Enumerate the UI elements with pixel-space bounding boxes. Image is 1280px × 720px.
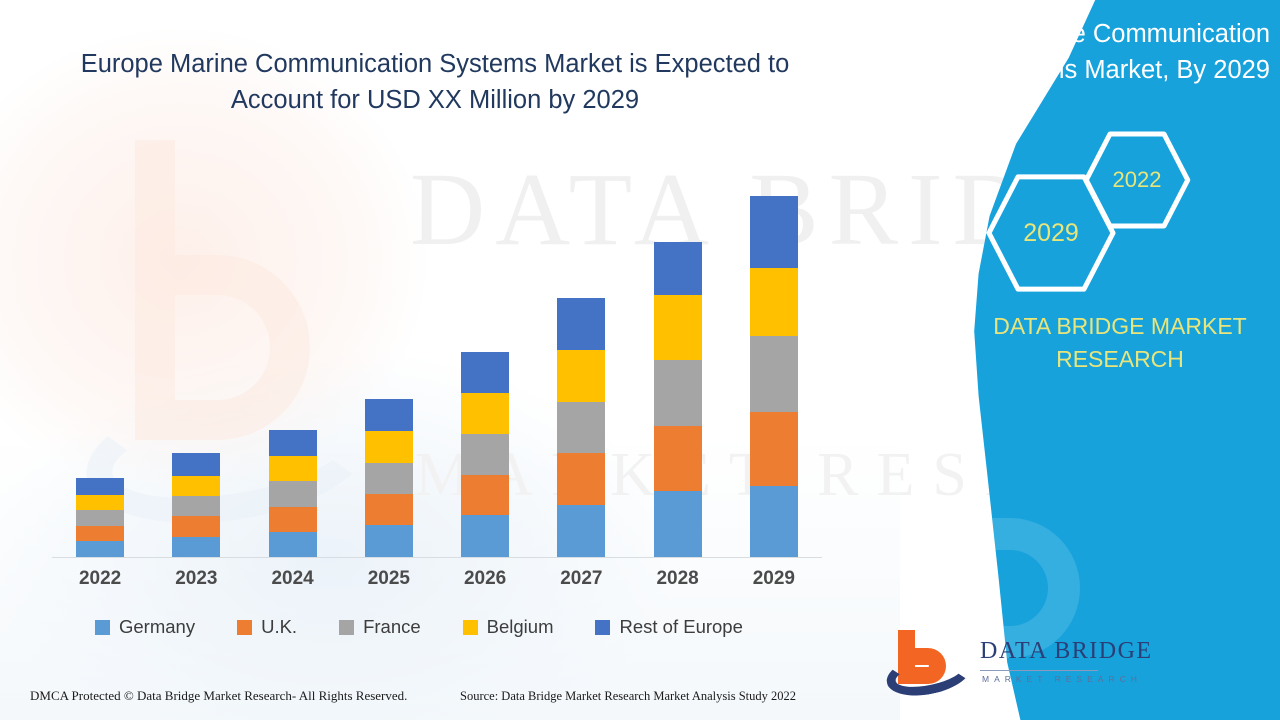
legend-label: Belgium <box>487 616 554 638</box>
footer-dmca-text: DMCA Protected © Data Bridge Market Rese… <box>30 688 407 704</box>
bar-segment-france <box>654 360 702 426</box>
bar-segment-belgium <box>654 295 702 360</box>
legend-item-france[interactable]: France <box>339 616 421 638</box>
bar-2024 <box>269 430 317 557</box>
bar-segment-france <box>557 402 605 453</box>
x-axis-label-2029: 2029 <box>734 568 814 590</box>
bar-segment-belgium <box>269 456 317 481</box>
bar-segment-belgium <box>76 495 124 511</box>
legend-swatch-icon <box>339 620 354 635</box>
x-axis-label-2024: 2024 <box>253 568 333 590</box>
x-axis-line <box>52 557 822 558</box>
bar-2026 <box>461 352 509 557</box>
legend-label: U.K. <box>261 616 297 638</box>
footer-source-text: Source: Data Bridge Market Research Mark… <box>460 689 796 704</box>
bar-segment-rest-of-europe <box>557 298 605 350</box>
bar-segment-u-k- <box>750 412 798 486</box>
bar-segment-belgium <box>461 393 509 434</box>
bar-segment-u-k- <box>654 426 702 491</box>
chart-legend: GermanyU.K.FranceBelgiumRest of Europe <box>95 616 785 638</box>
hex-2022-badge: 2022 <box>1083 130 1191 230</box>
x-axis-label-2028: 2028 <box>638 568 718 590</box>
bar-segment-germany <box>269 532 317 557</box>
bar-segment-france <box>750 336 798 413</box>
bar-segment-germany <box>365 525 413 557</box>
bar-segment-germany <box>76 541 124 557</box>
logo-subtitle: MARKET RESEARCH <box>982 674 1142 684</box>
x-axis-label-2025: 2025 <box>349 568 429 590</box>
bar-segment-u-k- <box>365 494 413 525</box>
bar-2027 <box>557 298 605 557</box>
bar-segment-germany <box>461 515 509 557</box>
bar-segment-rest-of-europe <box>461 352 509 393</box>
legend-item-germany[interactable]: Germany <box>95 616 195 638</box>
bar-segment-rest-of-europe <box>76 478 124 494</box>
logo-wordmark: DATA BRIDGE <box>980 638 1153 665</box>
bar-segment-belgium <box>365 431 413 463</box>
bar-2025 <box>365 399 413 557</box>
bar-segment-belgium <box>750 268 798 336</box>
chart-plot-area <box>52 170 822 558</box>
bar-segment-rest-of-europe <box>365 399 413 431</box>
legend-item-belgium[interactable]: Belgium <box>463 616 554 638</box>
x-axis-label-2027: 2027 <box>541 568 621 590</box>
legend-swatch-icon <box>595 620 610 635</box>
bar-segment-u-k- <box>461 475 509 516</box>
page-title: Europe Marine Communication Systems Mark… <box>40 46 830 118</box>
panel-title: Europe Marine Communication Systems Mark… <box>900 16 1270 88</box>
brand-name: DATA BRIDGE MARKET RESEARCH <box>960 310 1280 375</box>
x-axis-label-2022: 2022 <box>60 568 140 590</box>
infographic-canvas: DATA BRIDGE MARKET RESEARCH Europe Marin… <box>0 0 1280 720</box>
stacked-bar-chart <box>52 170 822 560</box>
x-axis-labels: 20222023202420252026202720282029 <box>52 568 822 598</box>
bar-segment-u-k- <box>76 526 124 542</box>
legend-swatch-icon <box>95 620 110 635</box>
legend-swatch-icon <box>463 620 478 635</box>
legend-item-rest-of-europe[interactable]: Rest of Europe <box>595 616 742 638</box>
bar-segment-france <box>172 496 220 516</box>
bar-segment-belgium <box>172 476 220 496</box>
bar-segment-germany <box>654 491 702 557</box>
bar-segment-france <box>76 510 124 526</box>
bar-2023 <box>172 453 220 557</box>
legend-swatch-icon <box>237 620 252 635</box>
hexagon-year-label: 2022 <box>1113 167 1162 193</box>
bar-segment-germany <box>557 505 605 557</box>
x-axis-label-2026: 2026 <box>445 568 525 590</box>
logo-divider <box>980 670 1098 671</box>
x-axis-label-2023: 2023 <box>156 568 236 590</box>
legend-label: Rest of Europe <box>619 616 742 638</box>
bar-segment-rest-of-europe <box>750 196 798 268</box>
bar-segment-germany <box>750 486 798 557</box>
bar-2029 <box>750 196 798 557</box>
logo-b-icon <box>888 628 974 696</box>
bar-segment-rest-of-europe <box>172 453 220 475</box>
bar-segment-u-k- <box>269 507 317 532</box>
bar-segment-rest-of-europe <box>654 242 702 295</box>
bar-segment-u-k- <box>557 453 605 504</box>
bar-segment-germany <box>172 537 220 557</box>
legend-item-u-k-[interactable]: U.K. <box>237 616 297 638</box>
hexagon-group: 20292022 <box>985 130 1215 295</box>
bar-segment-belgium <box>557 350 605 401</box>
legend-label: France <box>363 616 421 638</box>
bar-segment-france <box>365 463 413 494</box>
bar-segment-france <box>461 434 509 475</box>
legend-label: Germany <box>119 616 195 638</box>
bar-2028 <box>654 242 702 557</box>
bar-segment-u-k- <box>172 516 220 536</box>
data-bridge-logo: DATA BRIDGE MARKET RESEARCH <box>888 628 1103 700</box>
bar-segment-france <box>269 481 317 506</box>
bar-2022 <box>76 478 124 557</box>
hexagon-year-label: 2029 <box>1023 219 1079 248</box>
bar-segment-rest-of-europe <box>269 430 317 456</box>
footer: DMCA Protected © Data Bridge Market Rese… <box>0 678 845 720</box>
